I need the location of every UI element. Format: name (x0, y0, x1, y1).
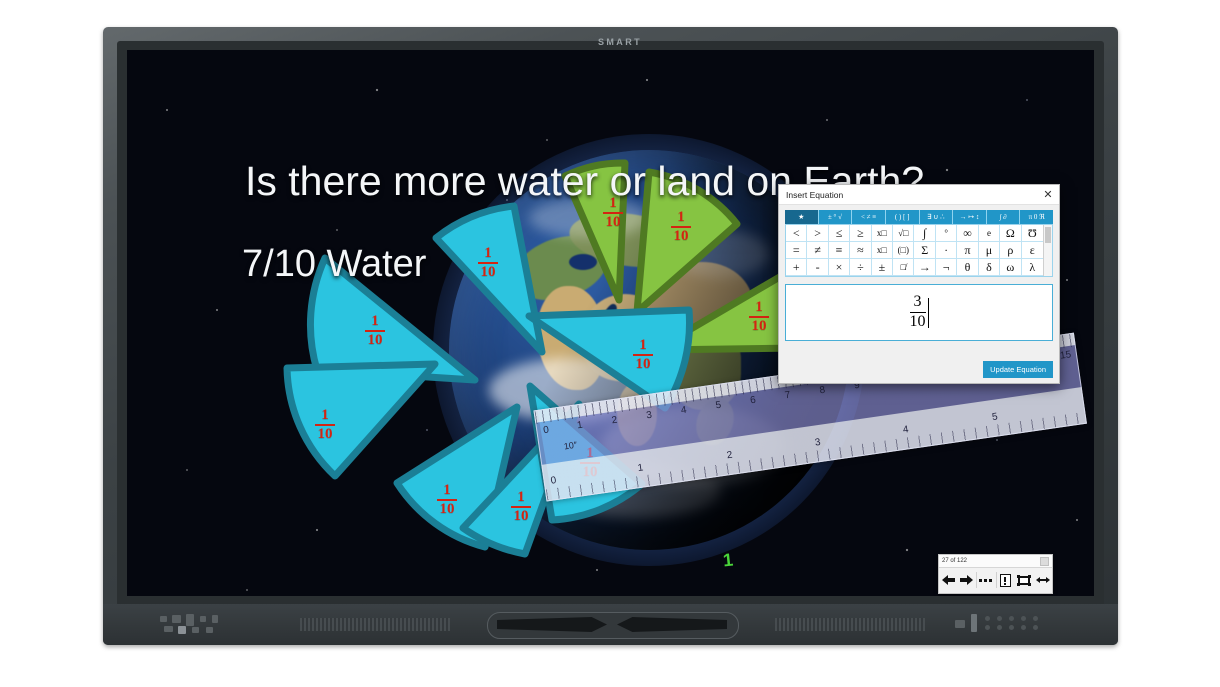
equation-numerator: 3 (910, 294, 926, 311)
tab-relations[interactable]: < ≠ ≡ (852, 210, 886, 224)
symbol-button[interactable]: → (914, 259, 935, 276)
dialog-titlebar: Insert Equation ✕ (779, 185, 1059, 205)
equation-denominator: 10 (910, 314, 926, 331)
scrollbar-thumb[interactable] (1045, 227, 1051, 243)
insert-equation-dialog[interactable]: Insert Equation ✕ ★ ± ° √ < ≠ ≡ ( ) [ ] … (778, 184, 1060, 384)
speaker-grille-left (300, 618, 450, 631)
symbol-category-tabs: ★ ± ° √ < ≠ ≡ ( ) [ ] ∃ ∪ ∴ → ↦ ↕ ∫ ∂ π … (785, 210, 1053, 224)
control-button[interactable] (212, 615, 218, 623)
symbol-button[interactable]: (□) (893, 242, 914, 259)
symbol-button[interactable]: ± (872, 259, 893, 276)
symbol-button[interactable]: δ (979, 259, 1000, 276)
equation-input-field[interactable]: 3 10 (785, 284, 1053, 341)
dialog-footer: Update Equation (983, 359, 1053, 378)
fullscreen-button[interactable] (1015, 568, 1034, 592)
tab-brackets[interactable]: ( ) [ ] (886, 210, 920, 224)
symbol-button[interactable]: ≤ (829, 225, 850, 242)
minimize-icon[interactable] (1040, 557, 1049, 566)
page-indicator: 27 of 122 (942, 558, 1040, 564)
control-button[interactable] (164, 626, 173, 632)
symbol-grid: < > ≤ ≥ x□ √□ ∫ ° ∞ e Ω Ʊ = ≠ ≡ ≈ x□ (785, 224, 1053, 277)
symbol-button[interactable]: e (979, 225, 1000, 242)
symbol-button[interactable]: ° (936, 225, 957, 242)
symbol-button[interactable]: ≥ (850, 225, 871, 242)
control-button[interactable] (192, 627, 199, 633)
symbol-button[interactable]: √□ (893, 225, 914, 242)
symbol-button[interactable]: π (957, 242, 978, 259)
tab-operators[interactable]: ± ° √ (819, 210, 853, 224)
smart-brand-logo: SMART (575, 36, 665, 48)
more-options-button[interactable] (977, 568, 996, 592)
symbol-button[interactable]: ≠ (807, 242, 828, 259)
control-button[interactable] (206, 627, 213, 633)
page-indicator-row: 27 of 122 (939, 555, 1052, 568)
symbol-grid-scrollbar[interactable] (1043, 225, 1052, 276)
symbol-button[interactable]: θ (957, 259, 978, 276)
arrows-horizontal-icon (1036, 576, 1050, 584)
symbol-button[interactable]: ∞ (957, 225, 978, 242)
ellipsis-icon (978, 577, 994, 583)
symbol-button[interactable]: Ω (1000, 225, 1021, 242)
symbol-cells: < > ≤ ≥ x□ √□ ∫ ° ∞ e Ω Ʊ = ≠ ≡ ≈ x□ (786, 225, 1043, 276)
symbol-button[interactable]: + (786, 259, 807, 276)
symbol-button[interactable]: ≡ (829, 242, 850, 259)
symbol-button[interactable]: ¬ (936, 259, 957, 276)
tab-greek[interactable]: π 0 ℜ (1020, 210, 1053, 224)
symbol-button[interactable]: ∫ (914, 225, 935, 242)
speaker-grille-right (775, 618, 925, 631)
symbol-button[interactable]: Σ (914, 242, 935, 259)
page-navigation-toolbar[interactable]: 27 of 122 (938, 554, 1053, 594)
symbol-button[interactable]: ε (1022, 242, 1043, 259)
control-button[interactable] (172, 615, 181, 623)
control-button[interactable] (200, 616, 206, 622)
symbol-button[interactable]: μ (979, 242, 1000, 259)
symbol-button[interactable]: - (807, 259, 828, 276)
fullscreen-icon (1017, 574, 1031, 587)
equation-fraction: 3 10 (910, 294, 926, 331)
symbol-button[interactable]: > (807, 225, 828, 242)
symbol-button[interactable]: □̸ (893, 259, 914, 276)
symbol-button[interactable]: Ʊ (1022, 225, 1043, 242)
tab-calculus[interactable]: ∫ ∂ (987, 210, 1021, 224)
page-view-button[interactable] (997, 568, 1016, 592)
symbol-button[interactable]: λ (1022, 259, 1043, 276)
navigation-buttons (939, 568, 1052, 592)
symbol-button[interactable]: ≈ (850, 242, 871, 259)
previous-page-button[interactable] (939, 568, 958, 592)
arrow-right-icon (959, 574, 974, 586)
update-equation-button[interactable]: Update Equation (983, 361, 1053, 378)
close-icon[interactable]: ✕ (1041, 188, 1055, 202)
next-page-button[interactable] (958, 568, 977, 592)
symbol-button[interactable]: × (829, 259, 850, 276)
control-button[interactable] (186, 614, 194, 626)
symbol-button[interactable]: ÷ (850, 259, 871, 276)
expand-toolbar-button[interactable] (1034, 568, 1053, 592)
arrow-left-icon (941, 574, 956, 586)
symbol-button[interactable]: = (786, 242, 807, 259)
dialog-title: Insert Equation (786, 190, 1041, 200)
control-button[interactable] (160, 616, 167, 622)
tab-arrows[interactable]: → ↦ ↕ (953, 210, 987, 224)
symbol-button[interactable]: x□ (872, 225, 893, 242)
display-screen: 1 10 1 10 1 10 (127, 50, 1094, 596)
text-caret (928, 298, 929, 328)
tab-sets[interactable]: ∃ ∪ ∴ (920, 210, 954, 224)
water-wedge[interactable]: 1 10 (525, 302, 700, 432)
screenshot-root: SMART (0, 0, 1220, 687)
indicator-bar (971, 614, 977, 632)
symbol-button[interactable]: ω (1000, 259, 1021, 276)
symbol-button[interactable]: x□ (872, 242, 893, 259)
symbol-button[interactable]: · (936, 242, 957, 259)
tab-favorites[interactable]: ★ (785, 210, 819, 224)
sensor-window (955, 620, 965, 628)
slide-subtitle: 7/10 Water (242, 243, 426, 286)
power-button[interactable] (178, 626, 186, 634)
symbol-button[interactable]: < (786, 225, 807, 242)
symbol-button[interactable]: ρ (1000, 242, 1021, 259)
document-icon (1000, 574, 1011, 587)
